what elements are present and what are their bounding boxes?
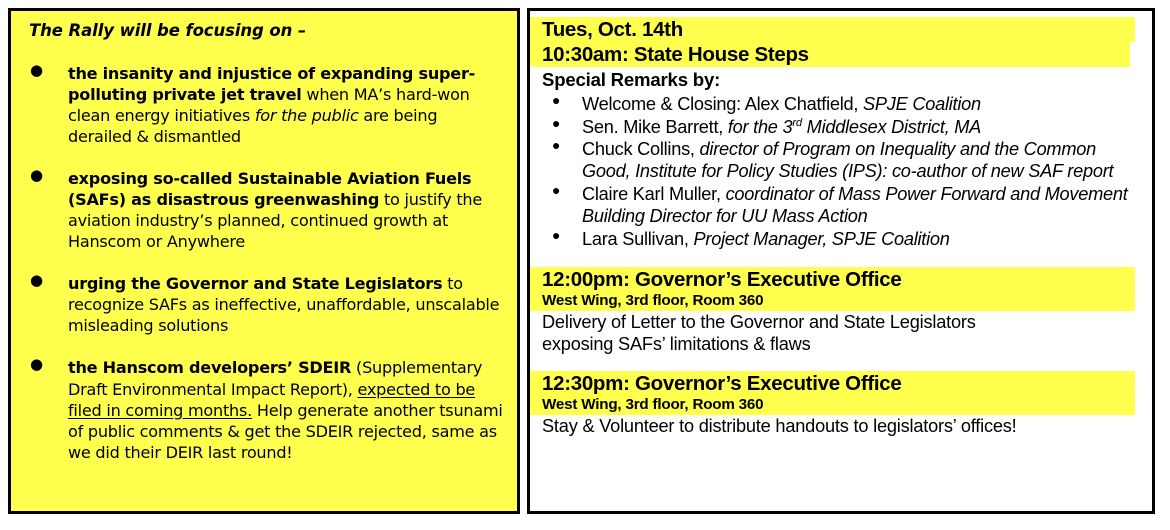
list-item: exposing so-called Sustainable Aviation …	[21, 168, 505, 252]
noon-block: 12:00pm: Governor’s Executive Office Wes…	[530, 267, 1152, 356]
twelve-thirty-block-heading: 12:30pm: Governor’s Executive Office	[530, 371, 1135, 396]
left-panel-heading: The Rally will be focusing on –	[29, 21, 505, 42]
special-remarks-label: Special Remarks by:	[542, 68, 1152, 91]
body-line: Delivery of Letter to the Governor and S…	[542, 311, 1146, 334]
list-item: urging the Governor and State Legislator…	[21, 273, 505, 336]
twelve-thirty-block-subheading: West Wing, 3rd floor, Room 360	[530, 396, 1135, 415]
speaker-list: Welcome & Closing: Alex Chatfield, SPJE …	[530, 93, 1152, 250]
event-time-location-line: 10:30am: State House Steps	[530, 42, 1130, 67]
body-line: Stay & Volunteer to distribute handouts …	[542, 415, 1146, 438]
twelve-thirty-block-body: Stay & Volunteer to distribute handouts …	[530, 415, 1152, 438]
twelve-thirty-block: 12:30pm: Governor’s Executive Office Wes…	[530, 371, 1152, 437]
rally-focus-panel: The Rally will be focusing on – the insa…	[8, 8, 520, 514]
list-item: Sen. Mike Barrett, for the 3rd Middlesex…	[530, 116, 1142, 138]
rally-schedule-panel: Tues, Oct. 14th 10:30am: State House Ste…	[527, 8, 1155, 514]
list-item: Claire Karl Muller, coordinator of Mass …	[530, 183, 1142, 228]
flyer-page: The Rally will be focusing on – the insa…	[0, 0, 1170, 530]
body-line: exposing SAFs’ limitations & flaws	[542, 333, 1146, 356]
list-item: the insanity and injustice of expanding …	[21, 63, 505, 147]
noon-block-heading: 12:00pm: Governor’s Executive Office	[530, 267, 1135, 292]
spacer	[530, 250, 1152, 267]
rally-focus-list: the insanity and injustice of expanding …	[21, 63, 505, 463]
list-item: Lara Sullivan, Project Manager, SPJE Coa…	[530, 228, 1142, 250]
noon-block-body: Delivery of Letter to the Governor and S…	[530, 311, 1152, 356]
event-date-line: Tues, Oct. 14th	[530, 17, 1135, 42]
list-item: the Hanscom developers’ SDEIR (Supplemen…	[21, 357, 505, 462]
list-item: Chuck Collins, director of Program on In…	[530, 138, 1142, 183]
list-item: Welcome & Closing: Alex Chatfield, SPJE …	[530, 93, 1142, 115]
noon-block-subheading: West Wing, 3rd floor, Room 360	[530, 292, 1135, 311]
spacer	[530, 356, 1152, 371]
event-header: Tues, Oct. 14th 10:30am: State House Ste…	[530, 17, 1152, 67]
